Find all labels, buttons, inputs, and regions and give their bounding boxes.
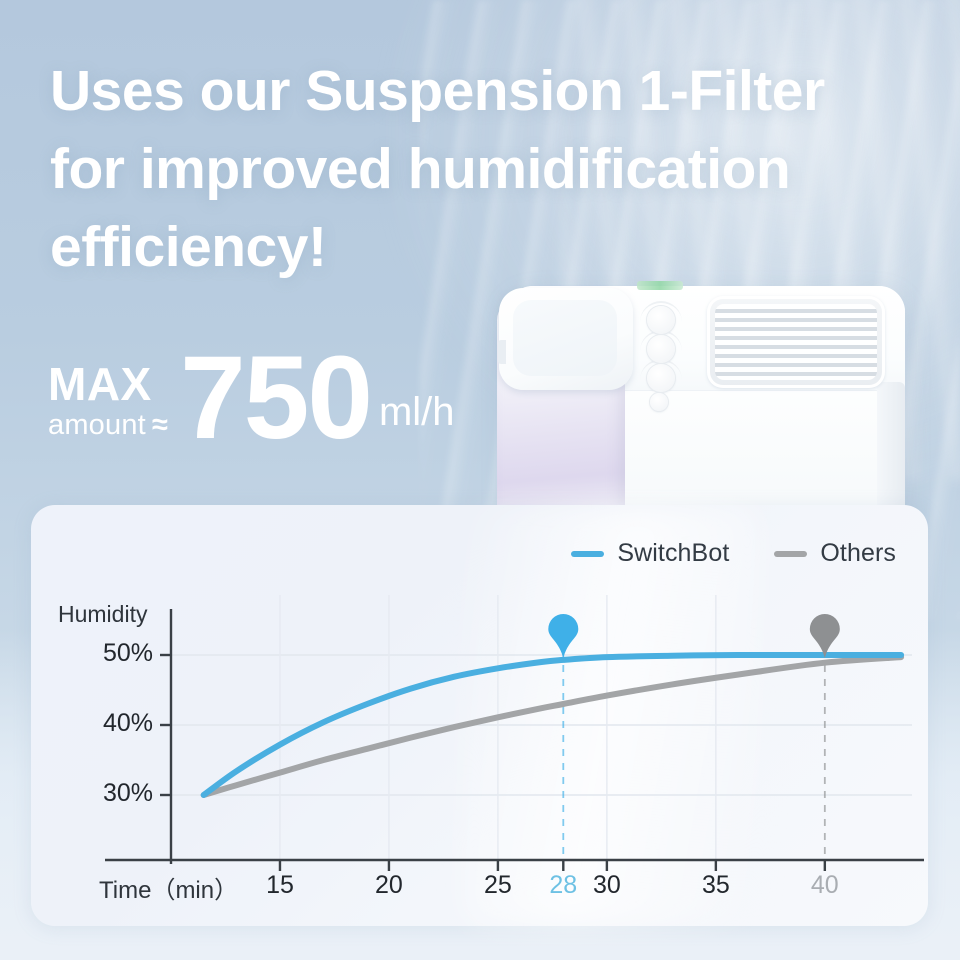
product-side-button — [498, 340, 506, 364]
product-right-edge — [877, 382, 905, 518]
x-tick-label: 30 — [577, 871, 637, 900]
headline: Uses our Suspension 1-Filter for improve… — [50, 52, 920, 286]
amount-word: amount — [48, 409, 146, 441]
amount-label: amount≈ — [48, 411, 168, 440]
marketing-image: Uses our Suspension 1-Filter for improve… — [0, 0, 960, 960]
mist-knob-icon — [647, 335, 675, 363]
chart-marker-pin — [810, 614, 840, 658]
x-tick-label: 20 — [359, 871, 419, 900]
timer-button-icon — [650, 393, 668, 411]
grille-louvers — [715, 304, 877, 380]
x-tick-label: 15 — [250, 871, 310, 900]
headline-line-3: efficiency! — [50, 208, 920, 286]
x-tick-label: 25 — [468, 871, 528, 900]
max-output-spec: MAX amount≈ 750 ml/h — [48, 348, 455, 449]
y-tick-label: 50% — [79, 639, 153, 668]
max-value: 750 — [180, 348, 371, 449]
product-front-panel — [585, 390, 878, 519]
product-tank-lid — [499, 288, 633, 390]
max-label: MAX — [48, 361, 168, 407]
max-unit: ml/h — [379, 390, 455, 449]
line-chart: Humidity Time（min） 50%40%30% 15202528303… — [31, 505, 928, 926]
product-image — [497, 278, 915, 518]
power-knob-icon — [647, 306, 675, 334]
product-air-outlet-grille — [707, 296, 885, 388]
product-control-panel — [637, 292, 703, 388]
x-tick-label: 40 — [795, 871, 855, 900]
chart-marker-pin — [548, 614, 578, 658]
chart-canvas — [31, 505, 928, 926]
mode-knob-icon — [647, 364, 675, 392]
headline-line-1: Uses our Suspension 1-Filter — [50, 52, 920, 130]
x-tick-label: 35 — [686, 871, 746, 900]
y-tick-label: 30% — [79, 779, 153, 808]
approx-symbol: ≈ — [152, 409, 168, 441]
product-led-display — [637, 281, 683, 290]
y-tick-label: 40% — [79, 709, 153, 738]
max-spec-labels: MAX amount≈ — [48, 361, 168, 449]
product-tank-lid-inset — [513, 300, 617, 376]
humidification-chart-card: SwitchBot Others Humidity Time（min） 50%4… — [31, 505, 928, 926]
headline-line-2: for improved humidification — [50, 130, 920, 208]
